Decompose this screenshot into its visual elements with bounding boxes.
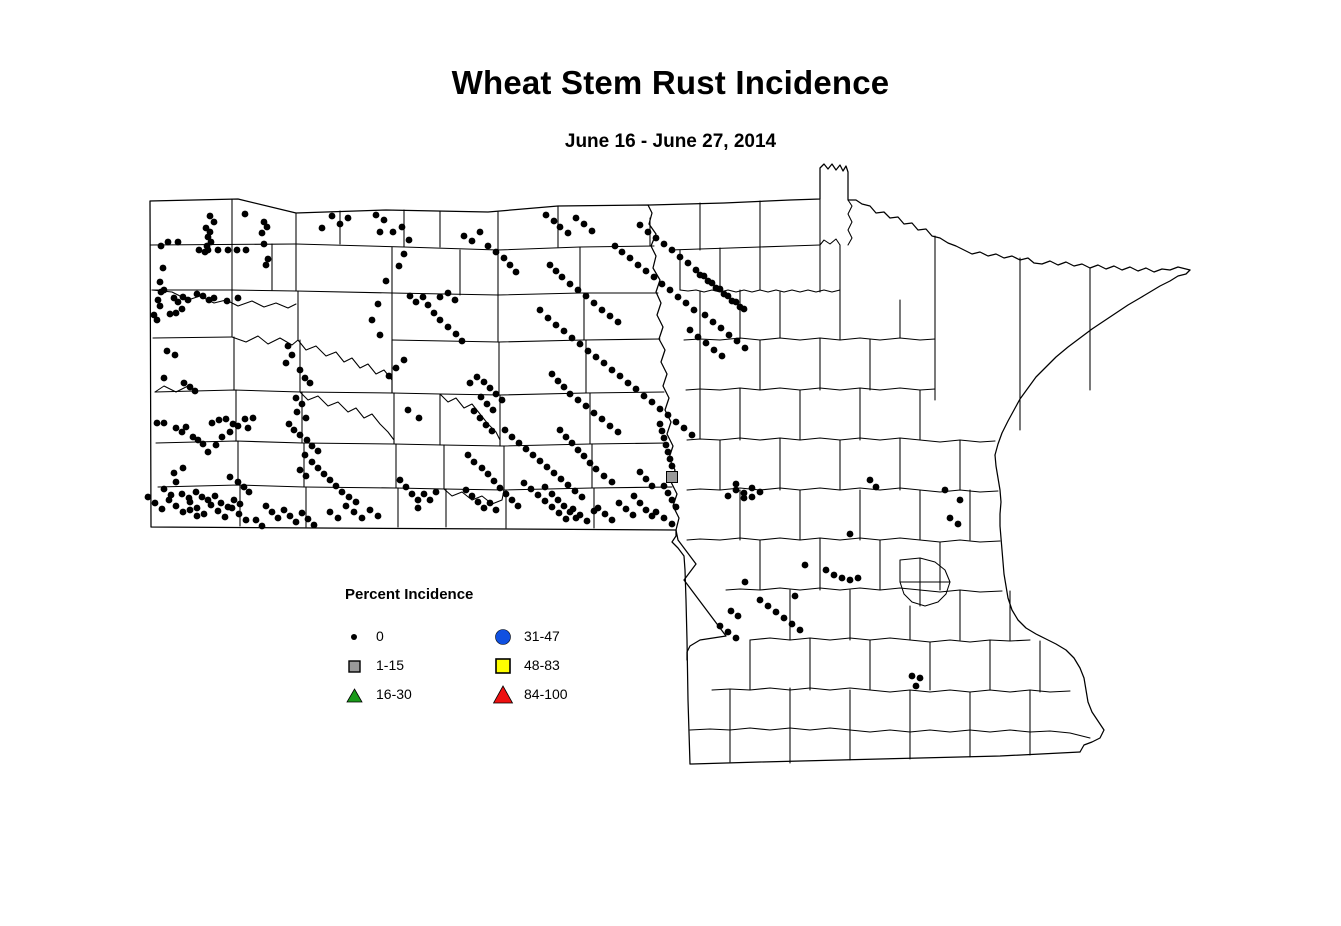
incidence-point xyxy=(509,434,516,441)
incidence-point xyxy=(175,299,182,306)
incidence-point xyxy=(343,503,350,510)
incidence-point xyxy=(477,415,484,422)
incidence-point xyxy=(609,479,616,486)
incidence-point xyxy=(942,487,949,494)
incidence-point xyxy=(431,310,438,317)
incidence-point xyxy=(661,435,668,442)
incidence-point xyxy=(471,408,478,415)
incidence-point xyxy=(263,503,270,510)
incidence-point xyxy=(493,249,500,256)
incidence-point xyxy=(297,467,304,474)
incidence-point xyxy=(229,505,236,512)
incidence-point xyxy=(461,233,468,240)
incidence-point xyxy=(687,327,694,334)
incidence-point xyxy=(549,504,556,511)
incidence-point xyxy=(180,509,187,516)
incidence-point xyxy=(225,247,232,254)
incidence-point xyxy=(507,262,514,269)
incidence-point xyxy=(711,347,718,354)
incidence-point xyxy=(327,509,334,516)
incidence-point xyxy=(553,268,560,275)
incidence-point xyxy=(173,503,180,510)
incidence-point xyxy=(663,442,670,449)
incidence-point xyxy=(735,613,742,620)
incidence-point xyxy=(728,608,735,615)
incidence-point xyxy=(337,221,344,228)
incidence-point xyxy=(503,491,510,498)
incidence-point xyxy=(669,497,676,504)
incidence-point xyxy=(957,497,964,504)
incidence-point xyxy=(607,313,614,320)
incidence-point xyxy=(183,424,190,431)
incidence-point xyxy=(231,497,238,504)
incidence-point xyxy=(528,486,535,493)
incidence-point xyxy=(335,515,342,522)
incidence-point xyxy=(200,441,207,448)
incidence-point xyxy=(591,508,598,515)
incidence-point xyxy=(649,513,656,520)
incidence-point xyxy=(484,401,491,408)
incidence-point xyxy=(725,629,732,636)
incidence-point xyxy=(749,494,756,501)
incidence-point xyxy=(351,509,358,516)
incidence-point xyxy=(305,516,312,523)
incidence-point xyxy=(212,493,219,500)
incidence-point xyxy=(667,287,674,294)
incidence-point xyxy=(250,415,257,422)
incidence-point xyxy=(209,420,216,427)
incidence-point xyxy=(194,505,201,512)
red-triangle-icon xyxy=(493,683,517,707)
incidence-point xyxy=(396,263,403,270)
incidence-point xyxy=(659,428,666,435)
incidence-point xyxy=(502,427,509,434)
incidence-point xyxy=(601,360,608,367)
incidence-point xyxy=(695,334,702,341)
incidence-point xyxy=(913,683,920,690)
incidence-point xyxy=(651,274,658,281)
incidence-point xyxy=(551,470,558,477)
incidence-point xyxy=(474,374,481,381)
incidence-point xyxy=(303,415,310,422)
incidence-point xyxy=(172,352,179,359)
incidence-point xyxy=(223,416,230,423)
incidence-point xyxy=(718,325,725,332)
incidence-point xyxy=(180,465,187,472)
incidence-point xyxy=(409,491,416,498)
incidence-point xyxy=(263,262,270,269)
incidence-point xyxy=(265,256,272,263)
incidence-point xyxy=(705,278,712,285)
incidence-point xyxy=(710,319,717,326)
incidence-point xyxy=(179,491,186,498)
legend-label-1: 1-15 xyxy=(376,657,404,673)
incidence-point xyxy=(599,307,606,314)
incidence-point xyxy=(359,515,366,522)
incidence-point xyxy=(591,410,598,417)
incidence-point xyxy=(665,490,672,497)
incidence-point xyxy=(643,476,650,483)
incidence-point xyxy=(545,315,552,322)
incidence-point xyxy=(729,298,736,305)
incidence-point xyxy=(293,519,300,526)
incidence-point xyxy=(661,515,668,522)
incidence-point xyxy=(544,464,551,471)
incidence-point xyxy=(173,425,180,432)
incidence-point xyxy=(591,300,598,307)
incidence-point xyxy=(669,521,676,528)
incidence-point xyxy=(208,502,215,509)
incidence-point xyxy=(157,279,164,286)
legend-label-2: 16-30 xyxy=(376,686,412,702)
incidence-point xyxy=(173,310,180,317)
incidence-point xyxy=(299,401,306,408)
incidence-point xyxy=(269,509,276,516)
map-canvas xyxy=(0,0,1341,926)
incidence-point xyxy=(542,484,549,491)
incidence-point xyxy=(657,421,664,428)
incidence-point xyxy=(947,515,954,522)
incidence-point xyxy=(847,577,854,584)
incidence-point xyxy=(685,260,692,267)
incidence-point xyxy=(401,251,408,258)
incidence-point xyxy=(577,512,584,519)
incidence-point xyxy=(615,319,622,326)
legend-label-0: 0 xyxy=(376,628,384,644)
incidence-point xyxy=(485,471,492,478)
incidence-point xyxy=(166,497,173,504)
incidence-point xyxy=(713,285,720,292)
incidence-point xyxy=(243,517,250,524)
incidence-point xyxy=(593,466,600,473)
incidence-point xyxy=(275,515,282,522)
incidence-point xyxy=(749,485,756,492)
incidence-point xyxy=(575,447,582,454)
incidence-point xyxy=(617,373,624,380)
incidence-point xyxy=(677,254,684,261)
incidence-point xyxy=(623,506,630,513)
map-page: Wheat Stem Rust Incidence June 16 - June… xyxy=(0,0,1341,926)
incidence-point xyxy=(847,531,854,538)
incidence-point xyxy=(167,311,174,318)
incidence-point xyxy=(742,345,749,352)
incidence-point xyxy=(420,294,427,301)
incidence-point xyxy=(584,518,591,525)
incidence-point xyxy=(283,360,290,367)
incidence-point xyxy=(469,493,476,500)
incidence-point xyxy=(490,407,497,414)
incidence-point xyxy=(393,365,400,372)
incidence-point xyxy=(339,489,346,496)
incidence-point xyxy=(246,489,253,496)
incidence-point xyxy=(661,241,668,248)
incidence-point xyxy=(164,348,171,355)
incidence-point xyxy=(587,460,594,467)
incidence-point xyxy=(235,479,242,486)
incidence-point xyxy=(373,212,380,219)
incidence-point xyxy=(792,593,799,600)
incidence-point xyxy=(955,521,962,528)
incidence-point xyxy=(556,510,563,517)
incidence-point xyxy=(551,218,558,225)
incidence-point xyxy=(321,471,328,478)
incidence-point xyxy=(509,497,516,504)
incidence-point xyxy=(609,367,616,374)
incidence-point xyxy=(575,397,582,404)
incidence-point xyxy=(286,421,293,428)
incidence-point xyxy=(437,294,444,301)
incidence-point xyxy=(319,225,326,232)
incidence-point xyxy=(471,459,478,466)
incidence-point xyxy=(563,516,570,523)
incidence-point xyxy=(561,384,568,391)
incidence-point xyxy=(399,224,406,231)
incidence-point xyxy=(601,473,608,480)
incidence-point xyxy=(219,434,226,441)
incidence-point xyxy=(593,354,600,361)
incidence-point xyxy=(530,452,537,459)
incidence-point xyxy=(304,437,311,444)
incidence-point xyxy=(515,503,522,510)
incidence-point xyxy=(637,500,644,507)
incidence-point xyxy=(717,623,724,630)
incidence-point xyxy=(179,306,186,313)
incidence-point xyxy=(516,440,523,447)
incidence-point xyxy=(583,293,590,300)
incidence-point xyxy=(154,317,161,324)
incidence-point xyxy=(802,562,809,569)
incidence-point xyxy=(445,324,452,331)
incidence-point xyxy=(643,268,650,275)
incidence-point xyxy=(415,505,422,512)
incidence-point xyxy=(547,262,554,269)
incidence-point xyxy=(741,495,748,502)
incidence-point xyxy=(521,480,528,487)
incidence-point xyxy=(631,493,638,500)
incidence-point xyxy=(570,506,577,513)
incidence-point xyxy=(563,434,570,441)
incidence-point xyxy=(565,482,572,489)
incidence-point xyxy=(375,513,382,520)
incidence-point xyxy=(175,239,182,246)
incidence-point xyxy=(585,348,592,355)
incidence-point xyxy=(673,504,680,511)
incidence-point xyxy=(602,511,609,518)
incidence-point xyxy=(781,615,788,622)
incidence-point xyxy=(427,497,434,504)
incidence-point xyxy=(689,432,696,439)
incidence-point xyxy=(307,380,314,387)
incidence-point xyxy=(405,407,412,414)
incidence-point xyxy=(567,281,574,288)
blue-circle-icon xyxy=(493,625,517,649)
incidence-point xyxy=(599,416,606,423)
incidence-point xyxy=(577,341,584,348)
incidence-point xyxy=(161,420,168,427)
incidence-point xyxy=(243,247,250,254)
incidence-point xyxy=(557,224,564,231)
incidence-point xyxy=(619,249,626,256)
incidence-point xyxy=(609,517,616,524)
incidence-point xyxy=(697,272,704,279)
incidence-point xyxy=(637,222,644,229)
incidence-point xyxy=(161,287,168,294)
incidence-point xyxy=(353,499,360,506)
incidence-point xyxy=(469,238,476,245)
incidence-point xyxy=(493,391,500,398)
incidence-point xyxy=(381,217,388,224)
incidence-point xyxy=(757,489,764,496)
incidence-point xyxy=(487,385,494,392)
incidence-point xyxy=(242,416,249,423)
incidence-point xyxy=(467,380,474,387)
incidence-point xyxy=(259,523,266,530)
incidence-point xyxy=(281,507,288,514)
incidence-point xyxy=(734,338,741,345)
incidence-point xyxy=(315,448,322,455)
legend-label-4: 48-83 xyxy=(524,657,560,673)
incidence-point xyxy=(194,513,201,520)
incidence-point xyxy=(649,483,656,490)
incidence-point xyxy=(575,287,582,294)
incidence-point xyxy=(726,332,733,339)
incidence-point xyxy=(607,423,614,430)
incidence-point xyxy=(669,247,676,254)
incidence-point xyxy=(315,465,322,472)
incidence-point xyxy=(565,230,572,237)
incidence-point xyxy=(572,488,579,495)
incidence-point xyxy=(627,255,634,262)
incidence-point xyxy=(491,478,498,485)
incidence-point xyxy=(309,443,316,450)
incidence-point xyxy=(573,215,580,222)
incidence-point xyxy=(583,403,590,410)
incidence-point xyxy=(645,229,652,236)
incidence-point xyxy=(635,262,642,269)
incidence-point xyxy=(733,487,740,494)
incidence-point xyxy=(386,373,393,380)
incidence-point xyxy=(302,452,309,459)
small-black-dot-icon xyxy=(345,625,369,649)
incidence-point xyxy=(193,489,200,496)
incidence-point xyxy=(675,294,682,301)
incidence-point xyxy=(481,379,488,386)
incidence-point xyxy=(633,386,640,393)
incidence-point xyxy=(218,500,225,507)
incidence-point xyxy=(657,406,664,413)
incidence-point xyxy=(413,299,420,306)
incidence-point xyxy=(367,507,374,514)
incidence-point xyxy=(201,511,208,518)
incidence-point xyxy=(542,498,549,505)
incidence-point xyxy=(406,237,413,244)
incidence-point xyxy=(616,500,623,507)
incidence-point xyxy=(555,378,562,385)
incidence-point xyxy=(757,597,764,604)
incidence-point xyxy=(797,627,804,634)
incidence-point xyxy=(297,432,304,439)
incidence-point xyxy=(702,312,709,319)
incidence-point xyxy=(285,343,292,350)
incidence-point xyxy=(773,609,780,616)
incidence-point xyxy=(145,494,152,501)
incidence-point xyxy=(302,375,309,382)
incidence-point xyxy=(187,507,194,514)
legend-label-3: 31-47 xyxy=(524,628,560,644)
incidence-point xyxy=(589,228,596,235)
incidence-point xyxy=(160,265,167,272)
incidence-point xyxy=(485,243,492,250)
incidence-point xyxy=(437,317,444,324)
incidence-point xyxy=(205,449,212,456)
incidence-point xyxy=(855,575,862,582)
incidence-point xyxy=(673,419,680,426)
incidence-point xyxy=(227,474,234,481)
incidence-point xyxy=(643,507,650,514)
incidence-point xyxy=(569,335,576,342)
incidence-point xyxy=(549,491,556,498)
incidence-point xyxy=(478,394,485,401)
incidence-point xyxy=(241,484,248,491)
incidence-point xyxy=(309,459,316,466)
incidence-point xyxy=(242,211,249,218)
incidence-point xyxy=(649,399,656,406)
incidence-point xyxy=(171,470,178,477)
incidence-point xyxy=(733,635,740,642)
incidence-point xyxy=(537,307,544,314)
incidence-point xyxy=(653,235,660,242)
incidence-point xyxy=(433,489,440,496)
incidence-point xyxy=(397,477,404,484)
incidence-point xyxy=(421,491,428,498)
incidence-point xyxy=(581,221,588,228)
incidence-point xyxy=(303,473,310,480)
incidence-point xyxy=(375,301,382,308)
incidence-point xyxy=(501,255,508,262)
incidence-point xyxy=(200,293,207,300)
incidence-point xyxy=(725,493,732,500)
incidence-point xyxy=(187,499,194,506)
incidence-point xyxy=(765,603,772,610)
incidence-point xyxy=(152,500,159,507)
incidence-point xyxy=(158,243,165,250)
incidence-point xyxy=(196,247,203,254)
incidence-point xyxy=(659,281,666,288)
incidence-point xyxy=(293,395,300,402)
incidence-point xyxy=(289,352,296,359)
incidence-point xyxy=(873,484,880,491)
incidence-point xyxy=(235,423,242,430)
legend-title: Percent Incidence xyxy=(345,586,473,603)
incidence-point xyxy=(215,247,222,254)
incidence-point xyxy=(559,274,566,281)
incidence-point xyxy=(453,331,460,338)
incidence-point xyxy=(199,494,206,501)
incidence-point xyxy=(192,388,199,395)
incidence-point xyxy=(612,243,619,250)
incidence-point xyxy=(909,673,916,680)
incidence-point xyxy=(630,512,637,519)
incidence-point xyxy=(641,393,648,400)
incidence-point xyxy=(665,449,672,456)
incidence-point xyxy=(463,487,470,494)
incidence-point xyxy=(487,500,494,507)
incidence-point xyxy=(161,375,168,382)
incidence-point xyxy=(737,304,744,311)
incidence-point xyxy=(165,239,172,246)
incidence-point xyxy=(264,224,271,231)
incidence-point xyxy=(222,514,229,521)
